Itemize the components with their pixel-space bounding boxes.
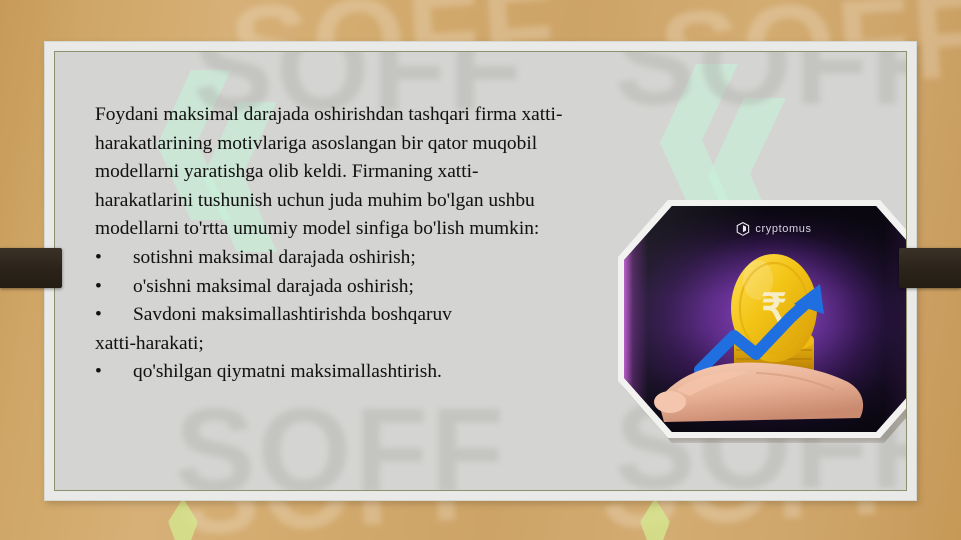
slide-body-text: Foydani maksimal darajada oshirishdan ta… xyxy=(95,101,565,387)
illustration-image: cryptomus xyxy=(618,200,907,438)
list-item-label: qo'shilgan qiymatni maksimallashtirish. xyxy=(133,361,442,382)
list-item: •qo'shilgan qiymatni maksimallashtirish. xyxy=(95,358,565,387)
bullet-icon: • xyxy=(95,301,133,330)
list-item: •sotishni maksimal darajada oshirish; xyxy=(95,244,565,273)
list-item-label: sotishni maksimal darajada oshirish; xyxy=(133,247,416,268)
list-item: •Savdoni maksimallashtirishda boshqaruv xyxy=(95,301,565,330)
image-viewport: cryptomus xyxy=(624,206,907,432)
list-item: •o'sishni maksimal darajada oshirish; xyxy=(95,273,565,302)
side-tab-right xyxy=(899,248,961,288)
slide-watermark-text: SOFF xyxy=(615,51,907,132)
list-item-label: o'sishni maksimal darajada oshirish; xyxy=(133,276,414,297)
leaf-shape-icon xyxy=(168,498,198,540)
slide-content-area: SOFF SOFF SOFF SOFF Foydani maksimal dar… xyxy=(54,51,907,491)
list-item-label: Savdoni maksimallashtirishda boshqaruv xyxy=(133,304,452,325)
coin-hand-illustration: ₹ xyxy=(624,232,907,422)
bullet-icon: • xyxy=(95,244,133,273)
list-item-continuation: xatti-harakati; xyxy=(95,330,565,359)
intro-paragraph: Foydani maksimal darajada oshirishdan ta… xyxy=(95,101,565,244)
slide-canvas: SOFF SOFF SOFF SOFF SOFF SOFF SOFF SOFF … xyxy=(0,0,961,540)
slide-frame: SOFF SOFF SOFF SOFF Foydani maksimal dar… xyxy=(44,41,917,501)
side-tab-left xyxy=(0,248,62,288)
leaf-shape-icon xyxy=(640,498,670,540)
bullet-icon: • xyxy=(95,273,133,302)
slide-watermark-text: SOFF xyxy=(175,382,507,491)
bullet-icon: • xyxy=(95,358,133,387)
